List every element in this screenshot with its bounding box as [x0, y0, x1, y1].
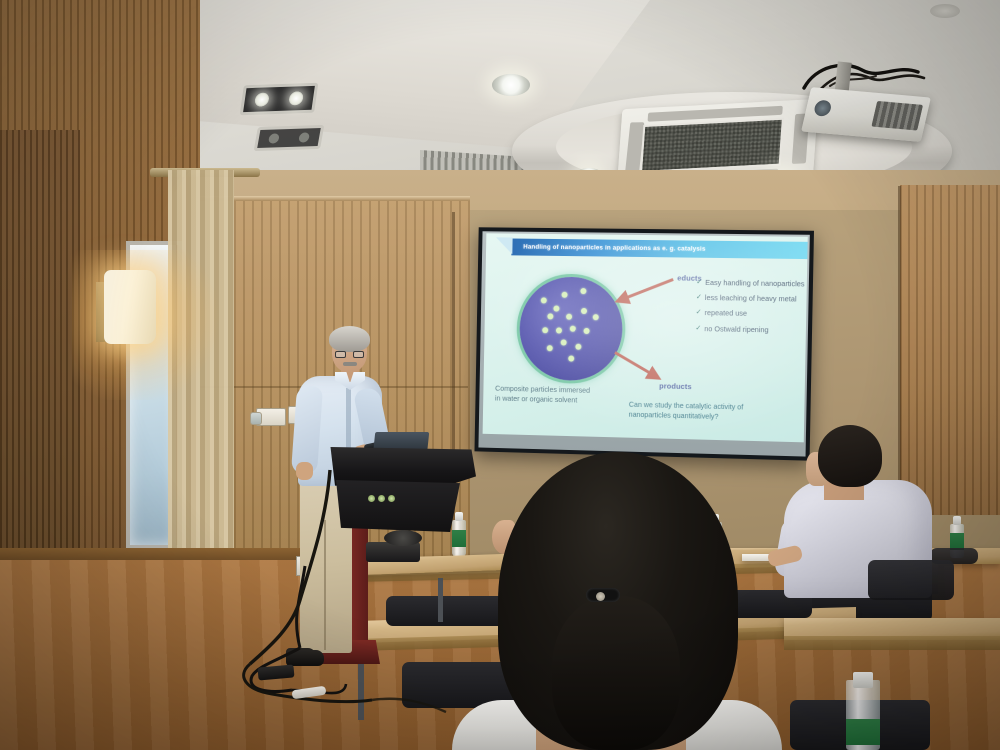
list-item: ✓ Easy handling of nanoparticles [696, 278, 806, 290]
presentation-slide: Handling of nanoparticles in application… [483, 233, 808, 442]
hair-bead-icon [596, 592, 605, 601]
nanoparticle-dot [542, 327, 548, 333]
lecture-room-scene: Handling of nanoparticles in application… [0, 0, 1000, 750]
list-item: ✓ less leaching of heavy metal [696, 293, 806, 305]
nanoparticle-dot [584, 328, 590, 334]
nanoparticle-dot [561, 339, 567, 345]
bullet-text: no Ostwald ripening [704, 324, 768, 335]
lectern-front-panel [336, 480, 460, 532]
nanoparticle-dot [541, 297, 547, 303]
wall-seam-2 [898, 186, 901, 516]
check-icon: ✓ [696, 308, 702, 318]
list-item: ✓ no Ostwald ripening [695, 324, 805, 336]
projector-ports [871, 101, 923, 131]
table-apron-front-right [784, 636, 1000, 650]
nanoparticle-dot [568, 356, 574, 362]
slide-title: Handling of nanoparticles in application… [511, 243, 705, 252]
products-label: products [659, 381, 692, 391]
nanoparticle-dot [566, 314, 572, 320]
presenter-hair [329, 326, 370, 352]
slide-corner-triangle-icon [496, 237, 513, 254]
nanoparticle-dot [547, 345, 553, 351]
right-wood-wall [900, 185, 1000, 515]
presenter-mustache [343, 362, 357, 366]
list-item: ✓ repeated use [696, 308, 806, 320]
check-icon: ✓ [696, 293, 702, 303]
chair-behind-attendee[interactable] [868, 560, 954, 600]
nanoparticle-dot [556, 327, 562, 333]
nanoparticle-dot [575, 344, 581, 350]
bullet-text: Easy handling of nanoparticles [705, 278, 805, 290]
attendee-head [818, 425, 882, 487]
nanoparticle-dot [593, 314, 599, 320]
glasses-icon [335, 351, 364, 358]
wall-sconce-lamp-icon[interactable] [104, 270, 156, 344]
check-icon: ✓ [696, 278, 702, 288]
trouser-seam [324, 520, 326, 650]
window-curtain [168, 170, 234, 590]
speaker-monitor [384, 530, 422, 546]
downlight-2 [492, 74, 530, 96]
chair-leg [438, 578, 443, 622]
foreground-attendee-ponytail [552, 596, 680, 750]
presenter-shoe-right [286, 650, 324, 666]
water-bottle[interactable] [452, 512, 466, 556]
nanoparticle-dot [547, 313, 553, 319]
smoke-detector-icon [930, 4, 960, 18]
nanoparticle-dot [562, 292, 568, 298]
slide-title-bar: Handling of nanoparticles in application… [511, 239, 807, 260]
projector-lens-icon [813, 100, 833, 117]
nanoparticle-dot [580, 288, 586, 294]
bullet-text: repeated use [704, 308, 747, 319]
chair-front-1[interactable] [386, 596, 508, 626]
spotlight-fixture-1 [240, 83, 319, 116]
bullet-text: less leaching of heavy metal [705, 293, 797, 305]
projection-screen: Handling of nanoparticles in application… [474, 227, 814, 460]
check-icon: ✓ [695, 324, 701, 334]
lectern-control-buttons[interactable] [368, 494, 410, 502]
slide-question: Can we study the catalytic activity of n… [629, 401, 770, 424]
wall-thermostat[interactable] [250, 412, 262, 425]
spotlight-fixture-2 [254, 125, 325, 151]
slide-bullet-list: ✓ Easy handling of nanoparticles ✓ less … [695, 278, 806, 341]
nanoparticle-dot [553, 306, 559, 312]
water-bottle[interactable] [846, 672, 880, 750]
slide-caption-left: Composite particles immersed in water or… [495, 384, 594, 406]
presenter-hand-left [296, 462, 313, 480]
